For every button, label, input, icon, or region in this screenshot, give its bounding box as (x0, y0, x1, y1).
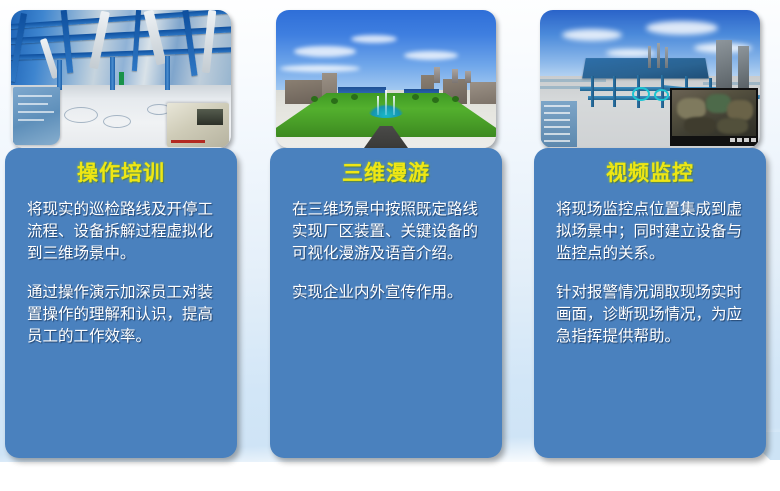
thumbnail-operation-training[interactable] (11, 10, 231, 148)
rack-leg (591, 76, 594, 106)
rack-leg (613, 76, 616, 106)
chimney-tower (465, 71, 471, 83)
card-title: 操作培训 (5, 162, 237, 185)
feature-card-three-dimensional-roaming[interactable]: 三维漫游 在三维场景中按照既定路线实现厂区装置、关键设备的可视化漫游及语音介绍。… (270, 8, 502, 458)
equipment-model (167, 103, 229, 147)
video-content-blob (677, 98, 706, 120)
cloud (351, 35, 397, 43)
card-text-block: 将现实的巡检路线及开停工流程、设备拆解过程虚拟化到三维场景中。 通过操作演示加深… (27, 199, 215, 348)
video-content-blob (684, 117, 716, 134)
building (470, 82, 496, 104)
card-title: 视频监控 (534, 162, 766, 185)
shrub (452, 96, 459, 102)
card-text-block: 在三维场景中按照既定路线实现厂区装置、关键设备的可视化漫游及语音介绍。 实现企业… (292, 199, 480, 304)
green-marker (119, 72, 124, 85)
floor-marking (103, 115, 131, 128)
feature-card-video-surveillance[interactable]: 视频监控 将现场监控点位置集成到虚拟场景中；同时建立设备与监控点的关系。 针对报… (534, 8, 766, 458)
video-control-bar[interactable] (672, 136, 756, 144)
card-paragraph: 实现企业内外宣传作用。 (292, 282, 480, 304)
video-content-blob (717, 118, 747, 134)
card-title: 三维漫游 (270, 162, 502, 185)
card-text-block: 将现场监控点位置集成到虚拟场景中；同时建立设备与监控点的关系。 针对报警情况调取… (556, 199, 744, 348)
flare-stack (657, 43, 660, 68)
pipe-deck-roof (582, 58, 709, 78)
water-jet (377, 96, 379, 115)
floor-marking (64, 107, 98, 123)
scene-info-panel (13, 87, 60, 145)
card-body-video-surveillance: 视频监控 将现场监控点位置集成到虚拟场景中；同时建立设备与监控点的关系。 针对报… (534, 148, 766, 458)
support-column (110, 57, 115, 90)
thumbnail-video-surveillance[interactable] (540, 10, 760, 148)
card-paragraph: 通过操作演示加深员工对装置操作的理解和认识，提高员工的工作效率。 (27, 282, 215, 348)
scene-plant-with-video-overlay (540, 10, 760, 148)
feature-card-operation-training[interactable]: 操作培训 将现实的巡检路线及开停工流程、设备拆解过程虚拟化到三维场景中。 通过操… (5, 8, 237, 458)
card-paragraph: 在三维场景中按照既定路线实现厂区装置、关键设备的可视化漫游及语音介绍。 (292, 199, 480, 265)
scene-menu-overlay[interactable] (541, 101, 577, 147)
shrub (351, 94, 358, 100)
support-column (57, 60, 62, 90)
flare-stack (648, 46, 651, 68)
card-paragraph: 将现场监控点位置集成到虚拟场景中；同时建立设备与监控点的关系。 (556, 199, 744, 265)
flare-stack (665, 47, 668, 68)
road-edge-line (540, 79, 606, 82)
card-body-three-dimensional-roaming: 三维漫游 在三维场景中按照既定路线实现厂区装置、关键设备的可视化漫游及语音介绍。… (270, 148, 502, 458)
card-paragraph: 将现实的巡检路线及开停工流程、设备拆解过程虚拟化到三维场景中。 (27, 199, 215, 265)
water-jet (393, 96, 395, 115)
slide-canvas: 操作培训 将现实的巡检路线及开停工流程、设备拆解过程虚拟化到三维场景中。 通过操… (0, 0, 780, 491)
scene-indoor-pipe-rack (11, 10, 231, 148)
chimney-tower (434, 67, 440, 84)
scene-outdoor-campus (276, 10, 496, 148)
support-column (165, 56, 170, 91)
thumbnail-three-dimensional-roaming[interactable] (276, 10, 496, 148)
highlighted-equipment (654, 89, 669, 101)
card-paragraph: 针对报警情况调取现场实时画面，诊断现场情况，为应急指挥提供帮助。 (556, 282, 744, 348)
water-jet (385, 90, 387, 115)
card-body-operation-training: 操作培训 将现实的巡检路线及开停工流程、设备拆解过程虚拟化到三维场景中。 通过操… (5, 148, 237, 458)
cloud (646, 21, 718, 35)
feature-card-group: 操作培训 将现实的巡检路线及开停工流程、设备拆解过程虚拟化到三维场景中。 通过操… (0, 0, 780, 491)
chimney-tower (452, 69, 458, 83)
cloud (294, 46, 356, 57)
video-picture-in-picture[interactable] (670, 88, 758, 146)
distillation-tower (738, 46, 749, 93)
shrub (311, 96, 318, 102)
